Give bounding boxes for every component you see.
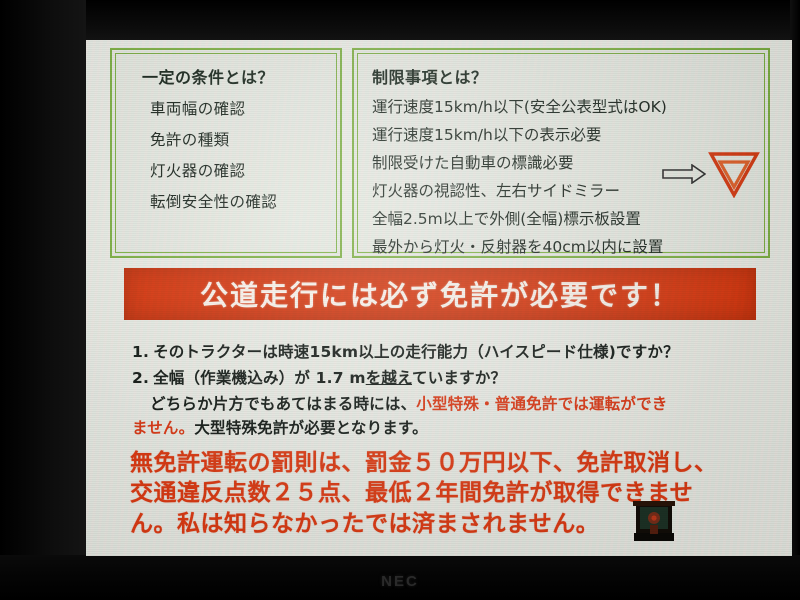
photographed-monitor: NEC 一定の条件とは？ 車両幅の確認 免許の種類 灯火器の確認 転倒安全性の確… bbox=[0, 0, 800, 600]
penalty-warning: 無免許運転の罰則は、罰金５０万円以下、免許取消し、 交通違反点数２５点、最低２年… bbox=[130, 448, 780, 539]
penalty-warning-line: 無免許運転の罰則は、罰金５０万円以下、免許取消し、 bbox=[130, 448, 780, 478]
license-required-banner: 公道走行には必ず免許が必要です！ bbox=[124, 268, 756, 320]
note-line-2-black: 大型特殊免許が必要となります。 bbox=[194, 419, 428, 437]
restrictions-item: 最外から灯火・反射器を40cm以内に設置 bbox=[372, 235, 756, 257]
right-arrow-icon bbox=[662, 164, 706, 184]
question-note: どちらか片方でもあてはまる時には、小型特殊・普通免許では運転ができ ません。大型… bbox=[132, 392, 752, 438]
slow-moving-vehicle-triangle-icon bbox=[708, 150, 760, 198]
question-number: 2. bbox=[132, 369, 149, 387]
monitor-bezel-left bbox=[0, 0, 86, 600]
conditions-item: 灯火器の確認 bbox=[150, 159, 328, 181]
note-line-2: ません。大型特殊免許が必要となります。 bbox=[132, 416, 752, 438]
question-number: 1. bbox=[132, 343, 149, 361]
conditions-item: 車両幅の確認 bbox=[150, 97, 328, 119]
monitor-bezel-top bbox=[0, 0, 800, 40]
question-text-underlined: を越え bbox=[366, 369, 412, 387]
question-item-2: 2.全幅（作業機込み）が 1.7 mを越えていますか？ bbox=[132, 366, 752, 388]
penalty-warning-line: 交通違反点数２５点、最低２年間免許が取得できませ bbox=[130, 478, 780, 508]
conditions-title: 一定の条件とは？ bbox=[142, 64, 328, 88]
condition-boxes-row: 一定の条件とは？ 車両幅の確認 免許の種類 灯火器の確認 転倒安全性の確認 制限… bbox=[110, 48, 770, 258]
restrictions-item: 運行速度15km/h以下の表示必要 bbox=[372, 123, 756, 145]
conditions-item: 転倒安全性の確認 bbox=[150, 190, 328, 212]
nec-brand-logo: NEC bbox=[0, 573, 800, 590]
slow-moving-vehicle-callout bbox=[662, 150, 760, 198]
note-line-1-black: どちらか片方でもあてはまる時には、 bbox=[150, 395, 416, 413]
conditions-box-inner: 一定の条件とは？ 車両幅の確認 免許の種類 灯火器の確認 転倒安全性の確認 bbox=[115, 53, 337, 253]
restrictions-item: 運行速度15km/h以下(安全公表型式はOK) bbox=[372, 95, 756, 117]
question-list: 1.そのトラクターは時速15km以上の走行能力（ハイスピード仕様)ですか？ 2.… bbox=[132, 340, 752, 440]
restrictions-title: 制限事項とは？ bbox=[372, 64, 756, 88]
note-line-1-red: 小型特殊・普通免許では運転ができ bbox=[416, 395, 667, 413]
conditions-item: 免許の種類 bbox=[150, 128, 328, 150]
tractor-photo bbox=[631, 495, 677, 543]
restrictions-item: 全幅2.5m以上で外側(全幅)標示板設置 bbox=[372, 207, 756, 229]
note-line-1: どちらか片方でもあてはまる時には、小型特殊・普通免許では運転ができ bbox=[132, 392, 752, 414]
question-text: そのトラクターは時速15km以上の走行能力（ハイスピード仕様)ですか？ bbox=[153, 343, 679, 361]
note-line-2-red: ません。 bbox=[132, 419, 194, 437]
restrictions-box: 制限事項とは？ 運行速度15km/h以下(安全公表型式はOK) 運行速度15km… bbox=[352, 48, 770, 258]
license-required-banner-text: 公道走行には必ず免許が必要です！ bbox=[200, 274, 680, 314]
question-text-before: 全幅（作業機込み）が 1.7 m bbox=[153, 369, 366, 387]
conditions-box: 一定の条件とは？ 車両幅の確認 免許の種類 灯火器の確認 転倒安全性の確認 bbox=[110, 48, 342, 258]
question-item-1: 1.そのトラクターは時速15km以上の走行能力（ハイスピード仕様)ですか？ bbox=[132, 340, 752, 362]
presentation-slide: 一定の条件とは？ 車両幅の確認 免許の種類 灯火器の確認 転倒安全性の確認 制限… bbox=[86, 40, 792, 556]
penalty-warning-line: ん。私は知らなかったでは済まされません。 bbox=[130, 509, 780, 539]
restrictions-box-inner: 制限事項とは？ 運行速度15km/h以下(安全公表型式はOK) 運行速度15km… bbox=[357, 53, 765, 253]
question-text-after: ていますか？ bbox=[412, 369, 506, 387]
